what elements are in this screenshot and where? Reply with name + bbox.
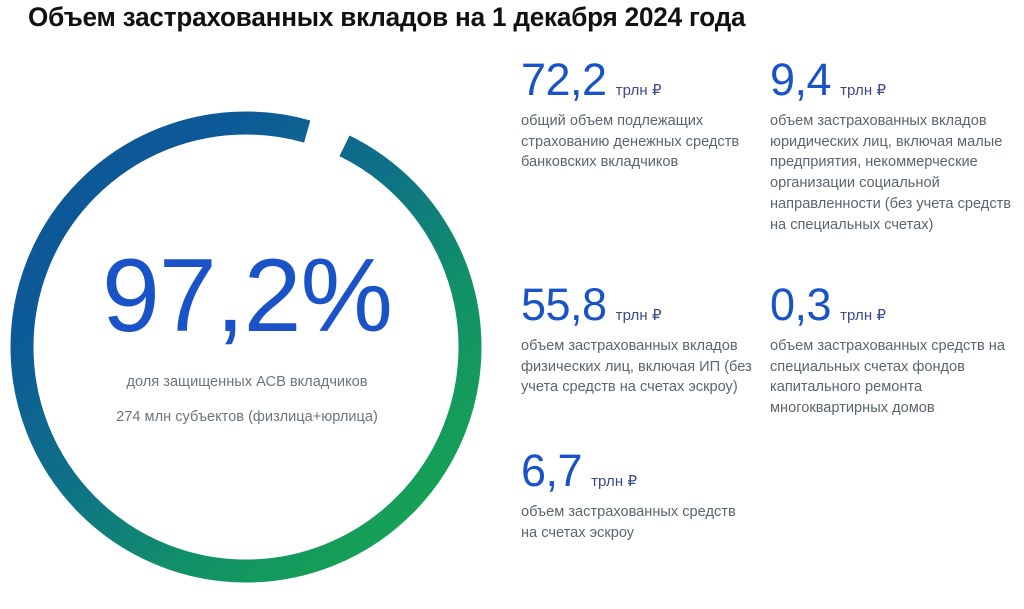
- stat-capital-repair-funds: 0,3 трлн ₽ объем застрахованных средств …: [770, 282, 1018, 419]
- stat-head: 72,2 трлн ₽: [521, 57, 751, 102]
- stat-description: объем застрахованных вкладов физических …: [521, 336, 763, 398]
- page-title: Объем застрахованных вкладов на 1 декабр…: [28, 2, 745, 33]
- stat-head: 6,7 трлн ₽: [521, 448, 753, 493]
- stat-head: 55,8 трлн ₽: [521, 282, 763, 327]
- stat-value: 9,4: [770, 57, 831, 102]
- stat-description: объем застрахованных средств на счетах э…: [521, 502, 753, 543]
- stat-unit: трлн ₽: [840, 306, 886, 324]
- stat-value: 6,7: [521, 448, 582, 493]
- stat-value: 72,2: [521, 57, 607, 102]
- donut-chart: 97,2% доля защищенных АСВ вкладчиков 274…: [10, 104, 484, 594]
- stat-unit: трлн ₽: [616, 306, 662, 324]
- stat-value: 0,3: [770, 282, 831, 327]
- stat-unit: трлн ₽: [591, 472, 637, 490]
- stat-unit: трлн ₽: [840, 81, 886, 99]
- donut-arc-filled: [22, 123, 470, 571]
- infographic-page: Объем застрахованных вкладов на 1 декабр…: [0, 0, 1024, 609]
- stat-head: 0,3 трлн ₽: [770, 282, 1018, 327]
- stat-head: 9,4 трлн ₽: [770, 57, 1015, 102]
- donut-ring-svg: [10, 104, 484, 594]
- stat-value: 55,8: [521, 282, 607, 327]
- stat-unit: трлн ₽: [616, 81, 662, 99]
- stat-description: общий объем подлежащих страхованию денеж…: [521, 111, 751, 173]
- stat-total-insurable: 72,2 трлн ₽ общий объем подлежащих страх…: [521, 57, 751, 173]
- stat-description: объем застрахованных вкладов юридических…: [770, 111, 1015, 235]
- stat-individuals: 55,8 трлн ₽ объем застрахованных вкладов…: [521, 282, 763, 398]
- stat-description: объем застрахованных средств на специаль…: [770, 336, 1018, 419]
- stat-escrow-accounts: 6,7 трлн ₽ объем застрахованных средств …: [521, 448, 753, 543]
- stat-legal-entities: 9,4 трлн ₽ объем застрахованных вкладов …: [770, 57, 1015, 235]
